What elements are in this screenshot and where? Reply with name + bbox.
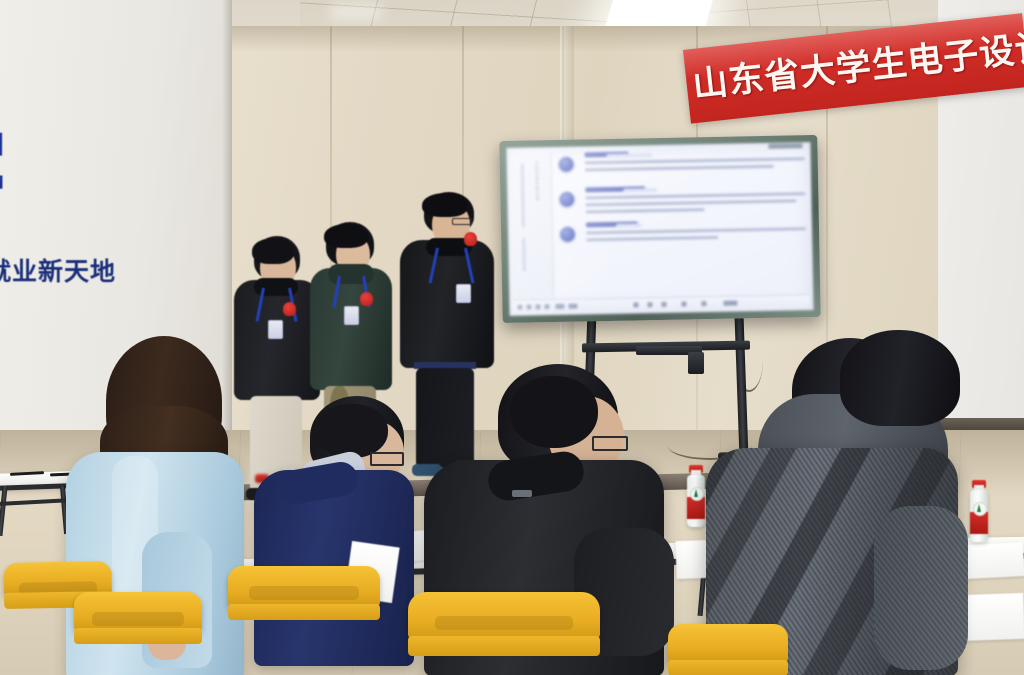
camo-jacket-arm bbox=[874, 506, 968, 670]
ribbon-badge bbox=[283, 302, 296, 316]
bottle-tree-icon bbox=[694, 489, 698, 497]
smart-board-screen[interactable]: 文档目录导航列表 bbox=[506, 142, 813, 316]
chair-seat bbox=[74, 628, 202, 644]
chair-seat bbox=[408, 636, 600, 656]
photo-scene: 堂 就业新天地 山东省大学生电子设计大赛一阜 文档目录导航列表 bbox=[0, 0, 1024, 675]
hair-fringe bbox=[422, 193, 468, 217]
app-message-list bbox=[559, 148, 808, 297]
jacket-logo bbox=[512, 490, 532, 497]
chair-right[interactable] bbox=[668, 624, 788, 675]
glasses-icon bbox=[452, 218, 472, 225]
chair-backrest bbox=[668, 624, 788, 664]
jacket bbox=[310, 268, 392, 390]
ribbon-badge bbox=[360, 292, 373, 306]
message-heading-fill bbox=[623, 188, 657, 193]
attendee-far-right-partial bbox=[840, 330, 1020, 510]
glasses-icon bbox=[592, 436, 628, 451]
app-sidebar-label: 文档目录导航列表 bbox=[530, 161, 542, 281]
chair-back-gap bbox=[249, 586, 358, 600]
hair-fringe bbox=[252, 238, 294, 264]
app-taskbar[interactable] bbox=[513, 294, 809, 314]
jacket bbox=[400, 240, 494, 368]
hair-fringe bbox=[324, 224, 368, 248]
wall-sign-subtitle: 就业新天地 bbox=[0, 252, 196, 288]
chair-center-left[interactable] bbox=[228, 566, 380, 642]
smart-board-bezel: 文档目录导航列表 bbox=[499, 135, 820, 323]
ceiling-light-glow bbox=[330, 4, 382, 20]
message-heading-fill bbox=[616, 223, 642, 227]
hair-side bbox=[510, 376, 598, 448]
hair-side bbox=[316, 404, 388, 458]
chair-back-gap bbox=[92, 612, 184, 626]
chair-back-gap bbox=[435, 616, 573, 630]
jacket-hood bbox=[328, 264, 374, 284]
chair-center[interactable] bbox=[408, 592, 600, 675]
assistant-avatar-icon bbox=[559, 192, 574, 207]
ribbon-badge bbox=[464, 232, 477, 246]
id-badge bbox=[268, 320, 283, 339]
id-badge bbox=[344, 306, 359, 325]
id-badge bbox=[456, 284, 471, 303]
message-heading-fill bbox=[607, 153, 653, 158]
chair-left-inner[interactable] bbox=[74, 592, 202, 662]
wall-sign-logo: 堂 bbox=[0, 112, 78, 208]
assistant-avatar-icon bbox=[559, 157, 574, 172]
message-block bbox=[560, 218, 806, 242]
message-block bbox=[559, 183, 805, 213]
smart-board[interactable]: 文档目录导航列表 bbox=[499, 135, 820, 323]
message-block bbox=[559, 148, 805, 172]
chair-seat bbox=[228, 604, 380, 620]
assistant-avatar-icon bbox=[560, 226, 575, 241]
chair-seat bbox=[668, 660, 788, 675]
app-sidebar[interactable]: 文档目录导航列表 bbox=[513, 153, 555, 302]
glasses-icon bbox=[370, 452, 404, 466]
hair bbox=[840, 330, 960, 426]
